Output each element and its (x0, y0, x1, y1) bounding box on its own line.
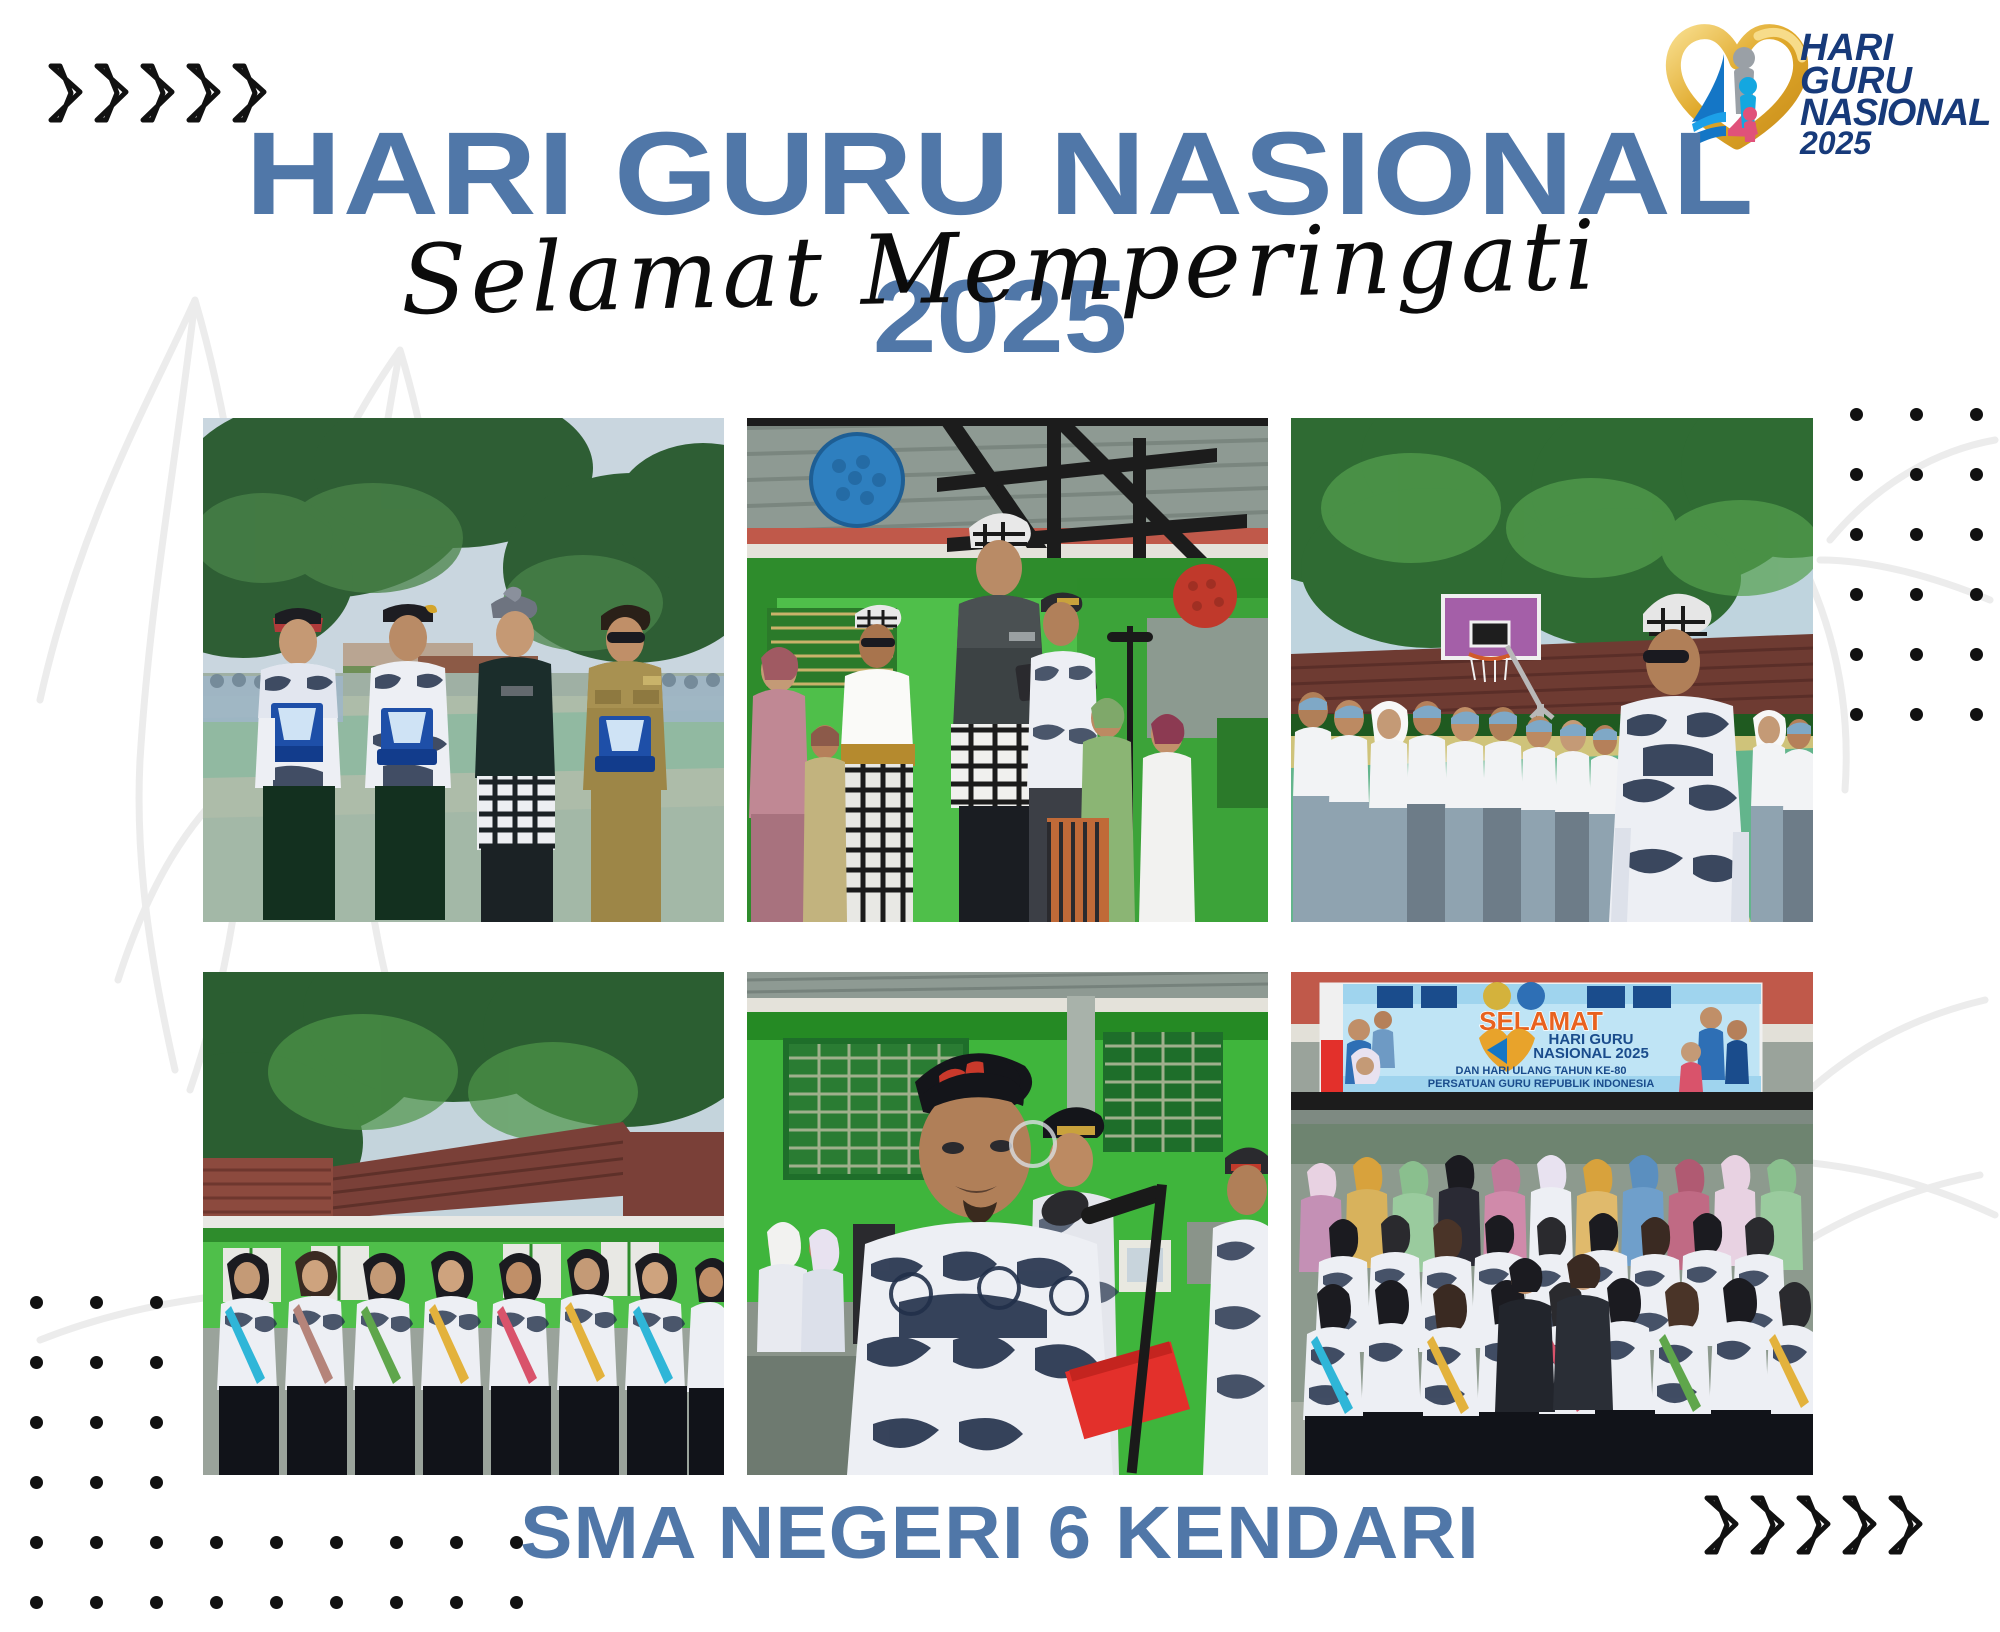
double-chevron-right-icon (182, 62, 224, 124)
gallery-photo-2[interactable] (747, 418, 1268, 922)
dot (1970, 708, 1983, 721)
dot-grid-top-right (1850, 408, 2000, 768)
dot (150, 1356, 163, 1369)
dot (1910, 528, 1923, 541)
svg-text:PERSATUAN GURU REPUBLIK INDONE: PERSATUAN GURU REPUBLIK INDONESIA (1428, 1078, 1655, 1090)
dot (150, 1476, 163, 1489)
dot (270, 1596, 283, 1609)
dot (1910, 708, 1923, 721)
dot (30, 1476, 43, 1489)
dot-row (30, 1572, 570, 1632)
gallery-photo-1[interactable] (203, 418, 724, 922)
svg-text:DAN HARI ULANG TAHUN KE-80: DAN HARI ULANG TAHUN KE-80 (1456, 1065, 1627, 1077)
dot (90, 1416, 103, 1429)
dot (30, 1296, 43, 1309)
dot (210, 1596, 223, 1609)
double-chevron-right-icon (44, 62, 86, 124)
dot (150, 1296, 163, 1309)
dot (150, 1416, 163, 1429)
dot (390, 1596, 403, 1609)
gallery-photo-5[interactable] (747, 972, 1268, 1475)
poster-canvas: HARI GURU NASIONAL 2025 HARI GURU NASION… (0, 0, 2000, 1600)
dot (90, 1296, 103, 1309)
dot (1910, 408, 1923, 421)
dot (510, 1596, 523, 1609)
double-chevron-right-icon (136, 62, 178, 124)
chevron-decoration-top-left (44, 62, 270, 124)
dot (1970, 648, 1983, 661)
dot (1850, 648, 1863, 661)
dot (1850, 408, 1863, 421)
dot (1850, 588, 1863, 601)
dot (1850, 708, 1863, 721)
dot (1850, 468, 1863, 481)
dot (1910, 648, 1923, 661)
dot (1910, 468, 1923, 481)
dot (30, 1596, 43, 1609)
dot (1910, 588, 1923, 601)
dot (1970, 408, 1983, 421)
double-chevron-right-icon (90, 62, 132, 124)
gallery-photo-4[interactable] (203, 972, 724, 1475)
dot (1970, 528, 1983, 541)
dot (90, 1356, 103, 1369)
dot (150, 1596, 163, 1609)
dot (1850, 528, 1863, 541)
dot (1970, 588, 1983, 601)
gallery-photo-3[interactable] (1291, 418, 1813, 922)
gallery-photo-6[interactable]: SELAMAT HARI GURU NASIONAL 2025 DAN HARI… (1291, 972, 1813, 1475)
school-name: SMA NEGERI 6 KENDARI (0, 1490, 2000, 1575)
photo-gallery: SELAMAT HARI GURU NASIONAL 2025 DAN HARI… (203, 418, 1815, 1475)
svg-text:NASIONAL 2025: NASIONAL 2025 (1533, 1045, 1649, 1062)
dot (450, 1596, 463, 1609)
dot (330, 1596, 343, 1609)
dot (90, 1596, 103, 1609)
dot (30, 1416, 43, 1429)
dot (90, 1476, 103, 1489)
dot (1970, 468, 1983, 481)
dot (30, 1356, 43, 1369)
